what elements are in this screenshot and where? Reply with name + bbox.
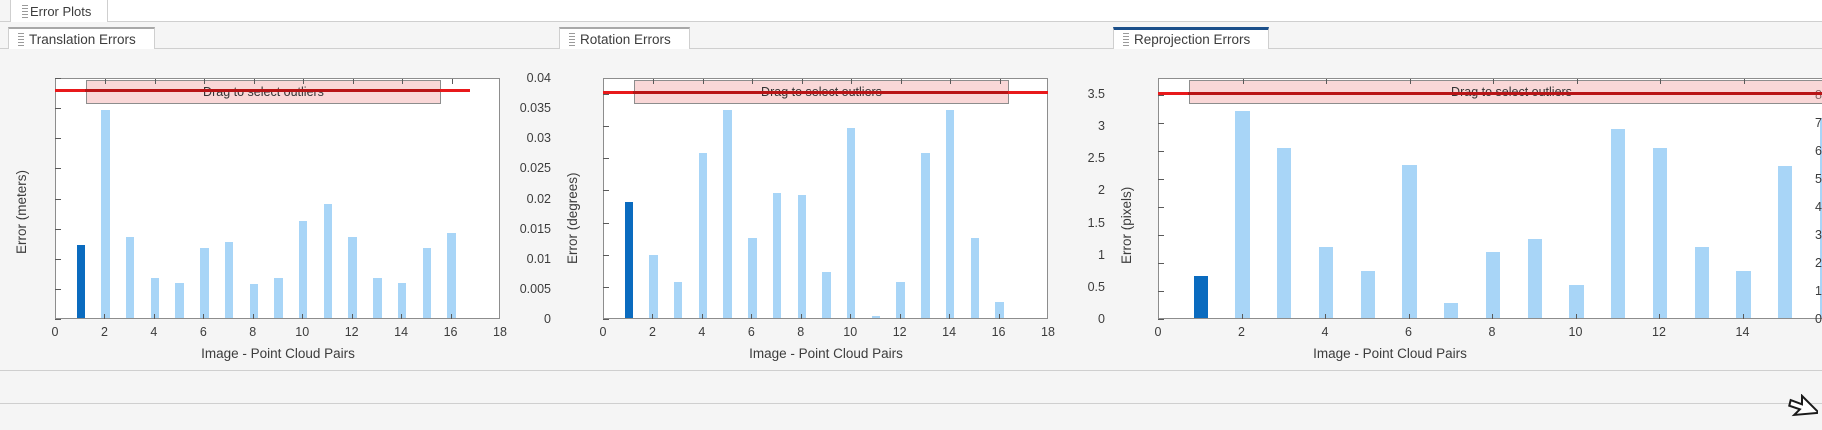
- panel-bottom-rule: [0, 370, 1822, 371]
- x-tick-label: 18: [1041, 325, 1055, 339]
- x-axis-label: Image - Point Cloud Pairs: [201, 346, 355, 361]
- bar[interactable]: [674, 282, 682, 318]
- x-tick-mark-top: [204, 79, 205, 84]
- x-tick-mark-top: [1493, 79, 1494, 84]
- y-tick-label: 3: [1778, 228, 1822, 242]
- y-tick-mark: [1158, 319, 1164, 320]
- x-tick-mark: [702, 314, 703, 319]
- x-tick-label: 6: [1405, 325, 1412, 339]
- x-tick-mark-top: [1660, 79, 1661, 84]
- x-tick-label: 10: [295, 325, 309, 339]
- bar[interactable]: [946, 110, 954, 318]
- y-tick-mark: [1158, 151, 1164, 152]
- x-tick-mark: [850, 314, 851, 319]
- y-tick-mark: [603, 158, 609, 159]
- y-tick-label: 0.04: [505, 71, 551, 85]
- y-axis-label: Error (meters): [14, 170, 29, 254]
- x-tick-label: 16: [444, 325, 458, 339]
- y-tick-label: 0.5: [1062, 280, 1105, 294]
- y-tick-mark: [603, 126, 609, 127]
- x-tick-mark-top: [353, 79, 354, 84]
- y-tick-label: 0.03: [505, 131, 551, 145]
- y-tick-label: 0: [505, 312, 551, 326]
- tab-rotation-errors[interactable]: Rotation Errors: [559, 27, 690, 49]
- y-tick-label: 1: [1062, 248, 1105, 262]
- y-tick-mark: [1158, 123, 1164, 124]
- plot-area[interactable]: Drag to select outliers: [603, 78, 1048, 319]
- chart-translation-errors[interactable]: Error (meters)Drag to select outliers00.…: [0, 49, 551, 381]
- tab-row-2: Rotation Errors: [551, 22, 1105, 49]
- drag-grip-icon[interactable]: [18, 33, 24, 46]
- x-tick-label: 14: [394, 325, 408, 339]
- bar[interactable]: [1361, 271, 1375, 318]
- bar[interactable]: [872, 316, 880, 318]
- bar[interactable]: [101, 110, 109, 318]
- x-tick-mark-top: [1326, 79, 1327, 84]
- y-tick-mark: [55, 138, 61, 139]
- bar[interactable]: [798, 195, 806, 318]
- y-tick-label: 0.025: [505, 161, 551, 175]
- bar[interactable]: [373, 278, 381, 318]
- tab-reprojection-errors-label: Reprojection Errors: [1134, 32, 1250, 47]
- bar[interactable]: [1695, 247, 1709, 318]
- outlier-threshold-line-inner[interactable]: [1188, 92, 1822, 95]
- bar[interactable]: [423, 248, 431, 318]
- bar[interactable]: [1736, 271, 1750, 318]
- tab-translation-errors[interactable]: Translation Errors: [8, 27, 155, 49]
- x-tick-mark: [352, 314, 353, 319]
- y-tick-label: 0.01: [505, 252, 551, 266]
- y-tick-label: 0: [1778, 312, 1822, 326]
- y-tick-mark: [603, 319, 609, 320]
- x-tick-mark-top: [1000, 79, 1001, 84]
- y-tick-mark: [603, 94, 609, 95]
- chart-reprojection-errors[interactable]: Error (pixels)Drag to select outliers012…: [1105, 49, 1822, 381]
- y-tick-mark: [1158, 291, 1164, 292]
- x-tick-mark-top: [452, 79, 453, 84]
- x-tick-label: 8: [797, 325, 804, 339]
- x-tick-mark-top: [1410, 79, 1411, 84]
- bar[interactable]: [1402, 165, 1416, 318]
- x-tick-mark-top: [303, 79, 304, 84]
- y-tick-mark: [1158, 235, 1164, 236]
- plot-area[interactable]: Drag to select outliers: [55, 78, 500, 319]
- x-tick-mark-top: [105, 79, 106, 84]
- y-tick-label: 0.035: [505, 101, 551, 115]
- y-tick-label: 2: [1778, 256, 1822, 270]
- panel-translation-errors: Translation Errors Error (meters)Drag to…: [0, 0, 551, 381]
- y-tick-mark: [1158, 263, 1164, 264]
- x-tick-mark: [401, 314, 402, 319]
- x-tick-label: 8: [249, 325, 256, 339]
- x-tick-label: 0: [600, 325, 607, 339]
- panel-reprojection-errors: Reprojection Errors Error (pixels)Drag t…: [1105, 0, 1822, 381]
- bar[interactable]: [896, 282, 904, 318]
- x-tick-mark: [999, 314, 1000, 319]
- x-tick-mark: [253, 314, 254, 319]
- x-tick-mark: [1409, 314, 1410, 319]
- x-tick-mark-top: [1577, 79, 1578, 84]
- resize-cursor-icon: [1788, 394, 1818, 428]
- outlier-threshold-line-inner[interactable]: [85, 89, 440, 92]
- y-tick-mark: [55, 319, 61, 320]
- bar[interactable]: [699, 153, 707, 318]
- y-tick-mark: [55, 108, 61, 109]
- error-plots-window: Error Plots Translation Errors Error (me…: [0, 0, 1822, 430]
- y-tick-label: 3: [1062, 119, 1105, 133]
- y-axis-label: Error (pixels): [1119, 187, 1134, 264]
- x-axis-label: Image - Point Cloud Pairs: [1313, 346, 1467, 361]
- tab-row-1: Translation Errors: [0, 22, 551, 49]
- y-tick-label: 0.015: [505, 222, 551, 236]
- bar[interactable]: [1319, 247, 1333, 318]
- bar[interactable]: [748, 238, 756, 318]
- y-tick-mark: [1158, 179, 1164, 180]
- x-tick-mark: [949, 314, 950, 319]
- x-tick-label: 4: [698, 325, 705, 339]
- x-tick-label: 16: [992, 325, 1006, 339]
- x-tick-mark: [1325, 314, 1326, 319]
- x-tick-mark: [1576, 314, 1577, 319]
- y-tick-label: 0.02: [505, 192, 551, 206]
- y-axis-label: Error (degrees): [565, 172, 580, 264]
- y-tick-label: 1: [1778, 284, 1822, 298]
- x-tick-mark: [302, 314, 303, 319]
- y-tick-mark: [1158, 207, 1164, 208]
- x-tick-label: 10: [843, 325, 857, 339]
- drag-grip-icon[interactable]: [569, 33, 575, 46]
- bar[interactable]: [225, 242, 233, 318]
- bar[interactable]: [126, 237, 134, 318]
- x-tick-mark-top: [653, 79, 654, 84]
- x-tick-mark: [652, 314, 653, 319]
- y-tick-mark: [55, 259, 61, 260]
- x-tick-label: 18: [493, 325, 507, 339]
- bar[interactable]: [1653, 148, 1667, 318]
- bar[interactable]: [250, 284, 258, 318]
- x-tick-mark-top: [1744, 79, 1745, 84]
- bar[interactable]: [773, 193, 781, 318]
- tab-row-3: Reprojection Errors: [1105, 22, 1822, 49]
- bar[interactable]: [348, 237, 356, 318]
- x-tick-label: 6: [748, 325, 755, 339]
- bar[interactable]: [447, 233, 455, 318]
- status-strip: [0, 403, 1822, 430]
- x-tick-label: 12: [345, 325, 359, 339]
- bar[interactable]: [847, 128, 855, 318]
- tab-reprojection-errors[interactable]: Reprojection Errors: [1113, 27, 1269, 49]
- x-tick-mark: [900, 314, 901, 319]
- y-tick-mark: [603, 190, 609, 191]
- x-tick-mark-top: [254, 79, 255, 84]
- x-tick-label: 12: [893, 325, 907, 339]
- bar[interactable]: [1528, 239, 1542, 318]
- x-tick-label: 10: [1569, 325, 1583, 339]
- x-tick-mark: [1743, 314, 1744, 319]
- x-tick-mark: [801, 314, 802, 319]
- bar[interactable]: [200, 248, 208, 318]
- bar-selected[interactable]: [625, 202, 633, 318]
- bar[interactable]: [649, 255, 657, 318]
- bar[interactable]: [299, 221, 307, 318]
- bar[interactable]: [274, 278, 282, 318]
- tab-rotation-errors-label: Rotation Errors: [580, 32, 671, 47]
- y-tick-label: 2: [1062, 183, 1105, 197]
- panel-rotation-errors: Rotation Errors Error (degrees)Drag to s…: [551, 0, 1105, 381]
- x-tick-mark: [104, 314, 105, 319]
- y-tick-label: 3.5: [1062, 87, 1105, 101]
- x-tick-label: 0: [1155, 325, 1162, 339]
- x-tick-mark-top: [1243, 79, 1244, 84]
- y-tick-label: 2.5: [1062, 151, 1105, 165]
- outlier-threshold-line-inner[interactable]: [633, 91, 1008, 94]
- y-tick-label: 1.5: [1062, 216, 1105, 230]
- x-tick-mark: [203, 314, 204, 319]
- y-tick-label: 0.005: [505, 282, 551, 296]
- bar[interactable]: [723, 110, 731, 318]
- drag-grip-icon[interactable]: [1123, 33, 1129, 46]
- x-tick-label: 12: [1652, 325, 1666, 339]
- y-tick-mark: [55, 289, 61, 290]
- bar[interactable]: [1611, 129, 1625, 318]
- y-tick-label: 4: [1778, 200, 1822, 214]
- bar[interactable]: [1277, 148, 1291, 318]
- y-tick-label: 6: [1778, 144, 1822, 158]
- y-tick-label: 5: [1778, 172, 1822, 186]
- x-tick-label: 14: [942, 325, 956, 339]
- y-tick-mark: [603, 287, 609, 288]
- x-tick-mark-top: [901, 79, 902, 84]
- bar[interactable]: [1444, 303, 1458, 318]
- bar-selected[interactable]: [77, 245, 85, 318]
- x-tick-mark: [451, 314, 452, 319]
- bar[interactable]: [398, 283, 406, 318]
- x-tick-mark-top: [402, 79, 403, 84]
- x-tick-mark-top: [752, 79, 753, 84]
- y-tick-label: 0: [1062, 312, 1105, 326]
- bar[interactable]: [822, 272, 830, 318]
- bar[interactable]: [971, 238, 979, 318]
- x-tick-mark-top: [703, 79, 704, 84]
- x-tick-label: 6: [200, 325, 207, 339]
- tab-translation-errors-label: Translation Errors: [29, 32, 136, 47]
- bar-selected[interactable]: [1194, 276, 1208, 318]
- x-tick-mark: [1492, 314, 1493, 319]
- x-tick-label: 8: [1489, 325, 1496, 339]
- x-tick-label: 0: [52, 325, 59, 339]
- bar[interactable]: [151, 278, 159, 318]
- y-tick-mark: [603, 223, 609, 224]
- x-tick-mark: [1659, 314, 1660, 319]
- bar[interactable]: [921, 153, 929, 318]
- x-tick-mark: [751, 314, 752, 319]
- bar[interactable]: [1235, 111, 1249, 318]
- chart-rotation-errors[interactable]: Error (degrees)Drag to select outliers00…: [551, 49, 1105, 381]
- y-tick-mark: [55, 168, 61, 169]
- y-tick-label: 7: [1778, 116, 1822, 130]
- x-tick-mark: [154, 314, 155, 319]
- bar[interactable]: [1486, 252, 1500, 318]
- x-tick-label: 2: [101, 325, 108, 339]
- x-tick-label: 4: [1322, 325, 1329, 339]
- x-tick-label: 2: [649, 325, 656, 339]
- bar[interactable]: [324, 204, 332, 318]
- x-tick-label: 14: [1736, 325, 1750, 339]
- x-tick-mark-top: [155, 79, 156, 84]
- x-tick-label: 4: [150, 325, 157, 339]
- y-tick-mark: [55, 78, 61, 79]
- y-tick-mark: [55, 199, 61, 200]
- x-tick-mark: [1242, 314, 1243, 319]
- x-tick-label: 2: [1238, 325, 1245, 339]
- x-tick-mark-top: [802, 79, 803, 84]
- x-tick-mark-top: [851, 79, 852, 84]
- y-tick-mark: [55, 229, 61, 230]
- y-tick-mark: [603, 255, 609, 256]
- x-axis-label: Image - Point Cloud Pairs: [749, 346, 903, 361]
- plot-area[interactable]: Drag to select outliers: [1158, 78, 1822, 319]
- outlier-select-band[interactable]: Drag to select outliers: [86, 80, 441, 104]
- bar[interactable]: [175, 283, 183, 318]
- x-tick-mark-top: [950, 79, 951, 84]
